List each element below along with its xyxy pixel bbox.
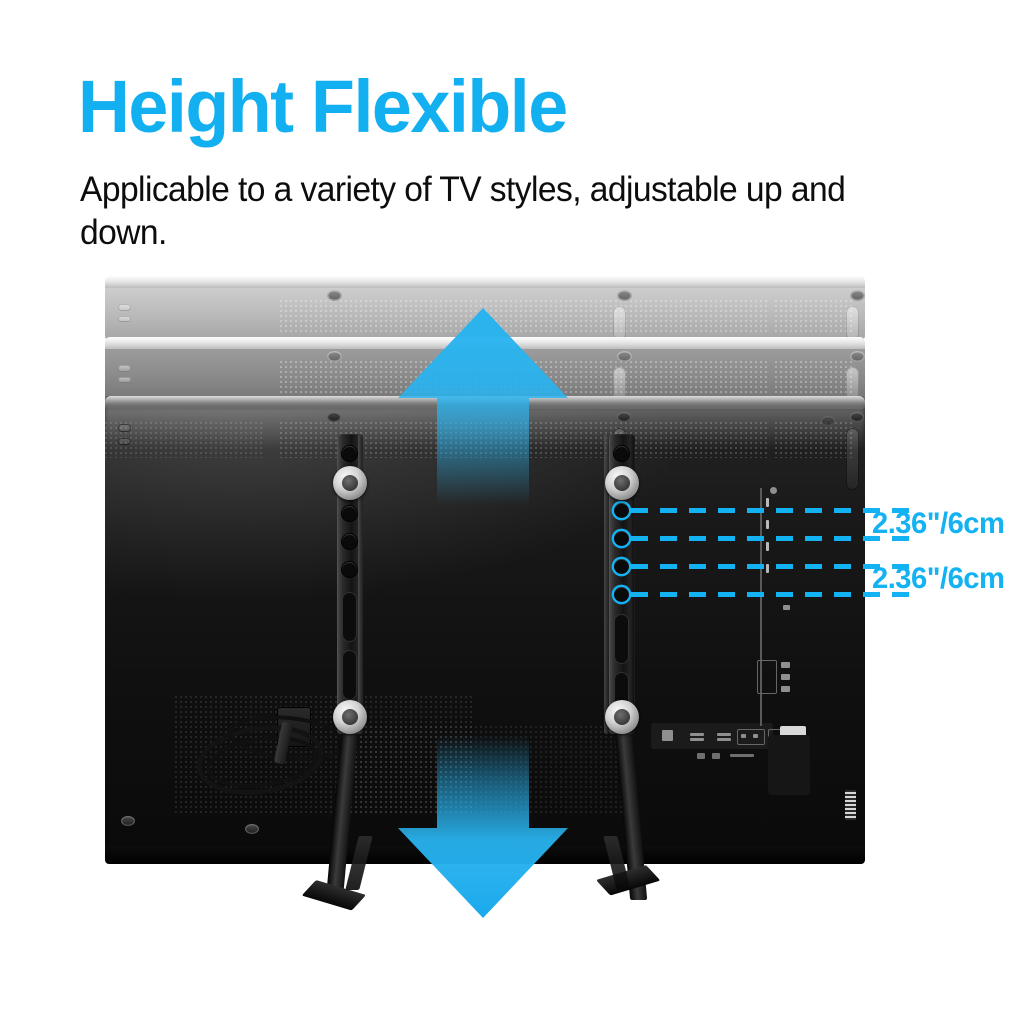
tv-rear-panel (105, 396, 865, 862)
bracket-hole-highlighted (614, 531, 629, 546)
tv-ghost-middle (105, 337, 865, 401)
bracket-slot (342, 592, 357, 642)
tv-ghost-highest (105, 276, 865, 340)
measurement-label-bottom: 2.36"/6cm (872, 562, 1004, 596)
bracket-hole (342, 562, 357, 577)
rating-sticker (845, 790, 856, 820)
bracket-hole-highlighted (614, 503, 629, 518)
measurement-label-top: 2.36"/6cm (872, 507, 1004, 541)
thumbscrew-bottom-right[interactable] (605, 700, 639, 734)
product-feature-graphic: Height Flexible Applicable to a variety … (0, 0, 1024, 1024)
bracket-slot (614, 614, 629, 664)
bracket-hole-highlighted (614, 587, 629, 602)
bracket-hole (342, 534, 357, 549)
bracket-hole (342, 446, 357, 461)
thumbscrew-bottom-left[interactable] (333, 700, 367, 734)
thumbscrew-top-right[interactable] (605, 466, 639, 500)
thumbscrew-top-left[interactable] (333, 466, 367, 500)
bracket-hole (614, 446, 629, 461)
bracket-hole-highlighted (614, 559, 629, 574)
bracket-hole (342, 506, 357, 521)
bracket-slot (342, 650, 357, 700)
